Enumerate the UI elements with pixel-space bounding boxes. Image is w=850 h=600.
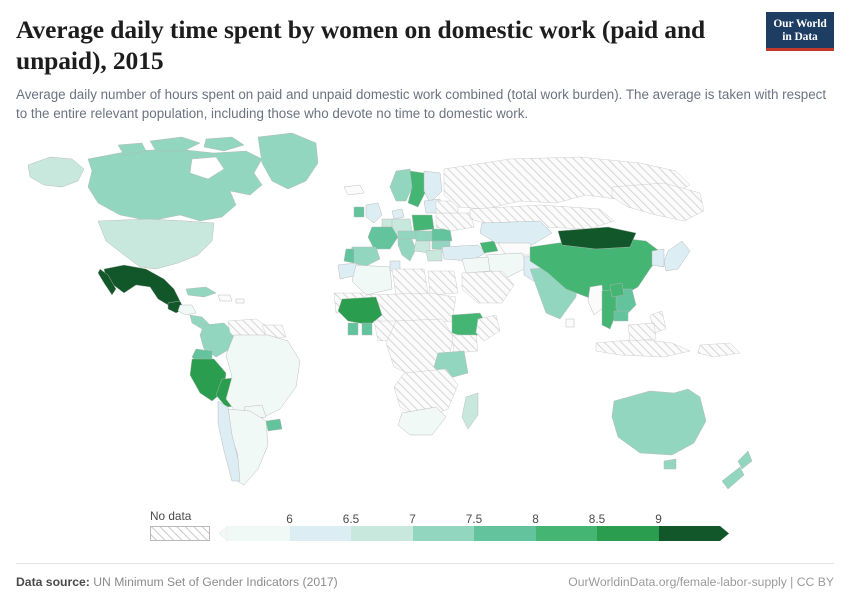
owid-logo-line1: Our World: [768, 18, 832, 31]
country-austria[interactable]: [398, 231, 416, 239]
country-france[interactable]: [368, 227, 398, 249]
legend-no-data[interactable]: No data: [150, 509, 214, 541]
legend-tick-5: 8.5: [589, 512, 605, 526]
country-kenya[interactable]: [452, 335, 478, 353]
country-borneo[interactable]: [628, 323, 656, 341]
country-alaska[interactable]: [28, 157, 84, 187]
footer-source-label: Data source:: [16, 575, 90, 589]
chart-footer: Data source: UN Minimum Set of Gender In…: [16, 563, 834, 600]
footer-source-text: UN Minimum Set of Gender Indicators (201…: [93, 575, 338, 589]
country-iceland[interactable]: [344, 185, 364, 195]
country-puerto-rico[interactable]: [236, 299, 244, 303]
country-russia-east[interactable]: [612, 183, 704, 221]
legend-swatch-4[interactable]: [474, 526, 536, 541]
country-united-states[interactable]: [98, 219, 214, 269]
hatch-pattern-icon: [151, 527, 209, 540]
country-papua-new-guinea[interactable]: [698, 343, 740, 357]
owid-logo[interactable]: Our World in Data: [766, 12, 834, 51]
country-mexico[interactable]: [104, 265, 180, 305]
country-canada-arctic-2[interactable]: [204, 137, 244, 151]
legend-tick-0: 6: [286, 512, 293, 526]
country-canada-arctic-1[interactable]: [150, 137, 200, 151]
country-finland[interactable]: [424, 171, 442, 203]
page-title: Average daily time spent by women on dom…: [16, 14, 751, 76]
country-iraq[interactable]: [462, 257, 490, 273]
legend-no-data-label: No data: [150, 509, 214, 523]
footer-attribution[interactable]: OurWorldinData.org/female-labor-supply |…: [568, 575, 834, 589]
country-united-kingdom[interactable]: [366, 203, 382, 223]
legend-swatch-6[interactable]: [597, 526, 659, 541]
owid-logo-line2: in Data: [768, 31, 832, 44]
country-canada[interactable]: [88, 149, 262, 221]
country-libya[interactable]: [392, 269, 428, 295]
legend-tick-6: 9: [655, 512, 662, 526]
footer-source: Data source: UN Minimum Set of Gender In…: [16, 575, 338, 589]
chart-header: Average daily time spent by women on dom…: [0, 0, 850, 123]
country-madagascar[interactable]: [462, 393, 478, 429]
country-cuba[interactable]: [186, 287, 216, 297]
legend-tick-4: 8: [532, 512, 539, 526]
legend-bar[interactable]: [228, 526, 720, 541]
country-benelux[interactable]: [382, 219, 392, 227]
country-greece[interactable]: [426, 249, 442, 261]
country-portugal[interactable]: [344, 249, 354, 263]
country-honduras[interactable]: [178, 305, 196, 315]
country-uruguay[interactable]: [266, 419, 282, 431]
legend-swatch-5[interactable]: [536, 526, 598, 541]
country-saudi-arabia[interactable]: [462, 271, 514, 303]
country-mongolia[interactable]: [558, 227, 636, 249]
country-new-zealand-south[interactable]: [722, 467, 744, 489]
legend-swatch-1[interactable]: [290, 526, 352, 541]
country-south-africa[interactable]: [398, 407, 446, 435]
country-ukraine[interactable]: [436, 213, 474, 231]
world-map-svg[interactable]: [0, 129, 850, 499]
owid-chart: Average daily time spent by women on dom…: [0, 0, 850, 600]
legend-swatch-7[interactable]: [659, 526, 721, 541]
country-egypt[interactable]: [428, 271, 458, 295]
legend-swatch-2[interactable]: [351, 526, 413, 541]
chart-subtitle: Average daily number of hours spent on p…: [16, 85, 834, 123]
country-poland[interactable]: [412, 215, 434, 231]
legend-tick-1: 6.5: [343, 512, 359, 526]
legend-cap-right-icon: [720, 526, 729, 541]
legend-no-data-swatch[interactable]: [150, 526, 210, 541]
legend-color-scale[interactable]: 6 6.5 7 7.5 8 8.5 9: [228, 509, 720, 541]
country-indonesia[interactable]: [596, 339, 690, 357]
country-benin[interactable]: [362, 323, 372, 335]
legend-tick-3: 7.5: [466, 512, 482, 526]
country-sri-lanka[interactable]: [566, 319, 574, 327]
country-korea[interactable]: [652, 249, 664, 267]
legend-tick-2: 7: [409, 512, 416, 526]
country-romania[interactable]: [432, 229, 452, 241]
country-ghana[interactable]: [348, 323, 358, 335]
country-myanmar[interactable]: [588, 285, 604, 315]
country-ireland[interactable]: [354, 207, 364, 217]
map-countries[interactable]: [28, 133, 752, 489]
country-hispaniola[interactable]: [218, 295, 232, 301]
country-greenland[interactable]: [258, 133, 318, 189]
legend-swatch-3[interactable]: [413, 526, 475, 541]
country-denmark[interactable]: [392, 209, 404, 219]
country-laos[interactable]: [610, 283, 624, 297]
country-somalia[interactable]: [476, 315, 500, 341]
country-cambodia[interactable]: [614, 311, 628, 321]
country-hungary[interactable]: [416, 231, 432, 241]
legend-ticks: 6 6.5 7 7.5 8 8.5 9: [228, 509, 720, 526]
country-japan[interactable]: [664, 241, 690, 271]
legend-swatch-0[interactable]: [228, 526, 290, 541]
world-map[interactable]: [0, 129, 850, 501]
country-algeria[interactable]: [352, 265, 392, 295]
country-tasmania[interactable]: [664, 459, 676, 469]
country-australia[interactable]: [612, 389, 706, 455]
map-legend: No data 6 6.5: [0, 501, 850, 563]
country-new-zealand[interactable]: [738, 451, 752, 469]
legend-cap-left-icon: [219, 526, 228, 541]
